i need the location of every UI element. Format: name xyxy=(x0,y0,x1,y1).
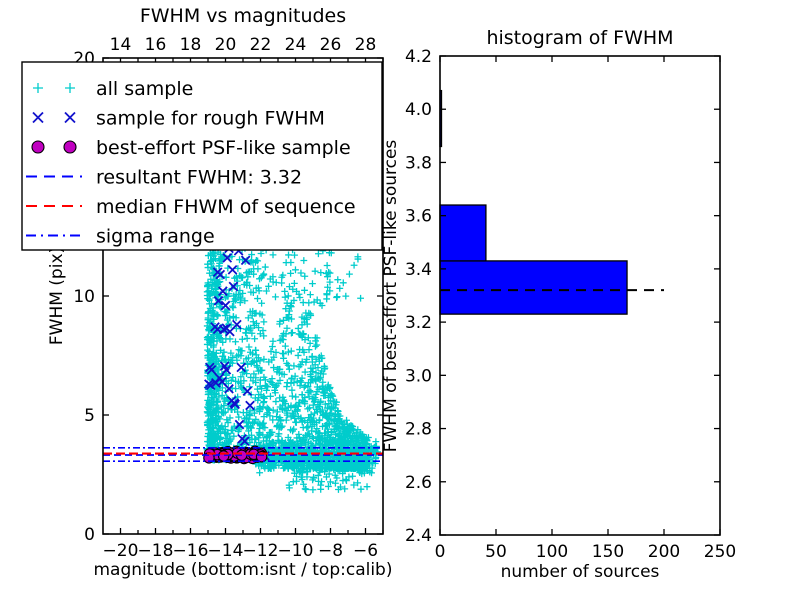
right-panel-title: histogram of FWHM xyxy=(486,27,673,49)
right-ytick-label: 3.2 xyxy=(405,313,432,333)
left-xtick-label: −6 xyxy=(353,541,378,561)
right-ytick-label: 4.2 xyxy=(405,47,432,67)
left-xtick-top-label: 26 xyxy=(320,35,342,55)
left-ytick-label: 10 xyxy=(73,287,95,307)
right-ytick-label: 3.8 xyxy=(405,153,432,173)
right-ytick-label: 3.0 xyxy=(405,366,432,386)
left-panel-xlabel: magnitude (bottom:isnt / top:calib) xyxy=(94,560,393,580)
right-xtick-label: 200 xyxy=(648,542,680,562)
left-xtick-label: −12 xyxy=(243,541,279,561)
left-xtick-top-label: 16 xyxy=(145,35,167,55)
right-xtick-label: 0 xyxy=(435,542,446,562)
left-xtick-label: −14 xyxy=(208,541,244,561)
right-ytick-label: 3.4 xyxy=(405,260,432,280)
left-panel-title: FWHM vs magnitudes xyxy=(140,5,346,27)
right-ytick-label: 2.8 xyxy=(405,420,432,440)
scatter-marker-circle xyxy=(218,451,228,461)
left-xtick-label: −20 xyxy=(103,541,139,561)
figure-canvas: −20−18−16−14−12−10−8−6141618202224262805… xyxy=(0,0,800,600)
left-xtick-label: −18 xyxy=(138,541,174,561)
left-xtick-label: −16 xyxy=(173,541,209,561)
left-xtick-top-label: 28 xyxy=(355,35,377,55)
legend: all samplesample for rough FWHMbest-effo… xyxy=(22,62,382,250)
histogram-bar-1 xyxy=(440,205,486,261)
legend-marker-circle xyxy=(64,141,76,153)
right-ytick-label: 2.4 xyxy=(405,526,432,546)
left-ytick-label: 0 xyxy=(84,525,95,545)
right-ytick-label: 3.6 xyxy=(405,207,432,227)
left-xtick-top-label: 20 xyxy=(215,35,237,55)
legend-marker-circle xyxy=(32,141,44,153)
right-ytick-label: 2.6 xyxy=(405,473,432,493)
histogram-bar-0 xyxy=(440,261,627,314)
left-xtick-top-label: 24 xyxy=(285,35,307,55)
left-xtick-top-label: 22 xyxy=(250,35,272,55)
left-panel-ylabel: FWHM (pix) xyxy=(47,247,67,345)
left-ytick-label: 5 xyxy=(84,406,95,426)
right-xtick-label: 100 xyxy=(536,542,568,562)
right-xtick-label: 50 xyxy=(485,542,507,562)
left-xtick-top-label: 14 xyxy=(110,35,132,55)
legend-item-label-5: sigma range xyxy=(96,226,215,248)
left-xtick-top-label: 18 xyxy=(180,35,202,55)
legend-item-label-1: sample for rough FWHM xyxy=(96,108,325,130)
right-xtick-label: 150 xyxy=(592,542,624,562)
right-xtick-label: 250 xyxy=(704,542,736,562)
right-ytick-label: 4.0 xyxy=(405,100,432,120)
legend-item-label-3: resultant FWHM: 3.32 xyxy=(96,167,302,189)
right-panel-xlabel: number of sources xyxy=(501,562,660,582)
legend-item-label-2: best-effort PSF-like sample xyxy=(96,137,351,159)
legend-item-label-0: all sample xyxy=(96,78,193,100)
left-xtick-label: −10 xyxy=(278,541,314,561)
left-xtick-label: −8 xyxy=(318,541,343,561)
matplotlib-figure: −20−18−16−14−12−10−8−6141618202224262805… xyxy=(0,0,800,600)
legend-item-label-4: median FHWM of sequence xyxy=(96,196,356,218)
right-panel-ylabel: FWHM of best-effort PSF-like sources xyxy=(381,140,401,453)
